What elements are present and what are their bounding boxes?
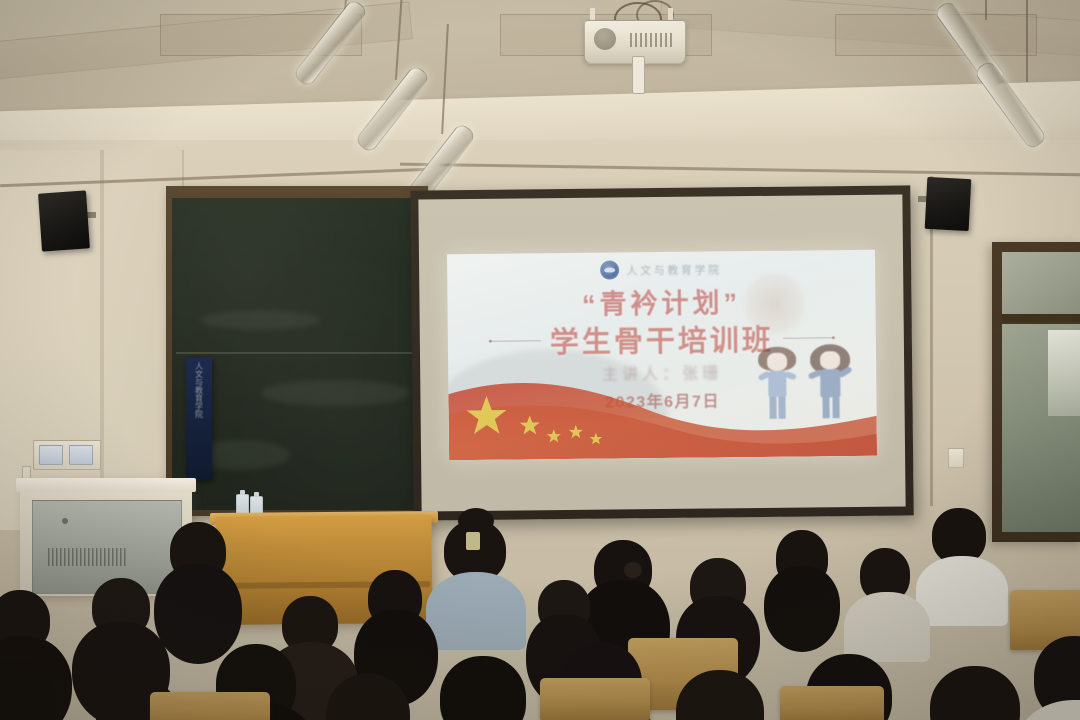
projector-lens-icon bbox=[594, 28, 616, 50]
chalk-line bbox=[176, 352, 420, 354]
university-emblem-icon bbox=[600, 260, 619, 279]
beam-panel bbox=[835, 14, 1037, 56]
projector-ceiling-mount bbox=[632, 56, 645, 94]
wall-speaker-right bbox=[925, 177, 972, 231]
chalk-smudge bbox=[260, 380, 410, 406]
light-suspension-wire bbox=[985, 0, 987, 20]
slide-institution-name: 人文与教育学院 bbox=[626, 261, 721, 278]
chalk-smudge bbox=[200, 310, 320, 330]
phone-icon bbox=[466, 532, 480, 550]
title-rule-right bbox=[783, 337, 835, 339]
wooden-seat-back bbox=[540, 678, 650, 720]
lecture-hall-photo: 人文与教育学院 人文与教育学院 “青衿计划” 学生骨干培训班 bbox=[0, 0, 1080, 720]
wooden-seat-back bbox=[150, 692, 270, 720]
wooden-seat-back bbox=[780, 686, 884, 720]
presentation-slide: 人文与教育学院 “青衿计划” 学生骨干培训班 主讲人：张珊 2023年6月7日 bbox=[447, 250, 877, 460]
seated-audience bbox=[0, 430, 1080, 720]
slide-header: 人文与教育学院 bbox=[447, 258, 875, 281]
title-rule-left bbox=[489, 340, 541, 342]
slide-title-line-2: 学生骨干培训班 bbox=[550, 317, 774, 361]
window-mullion bbox=[1002, 314, 1080, 322]
window-reflection bbox=[1048, 330, 1080, 416]
light-suspension-wire bbox=[1026, 0, 1028, 82]
wall-speaker-left bbox=[38, 190, 90, 251]
window-pane-top bbox=[1002, 252, 1080, 314]
projector-vent bbox=[630, 33, 672, 47]
